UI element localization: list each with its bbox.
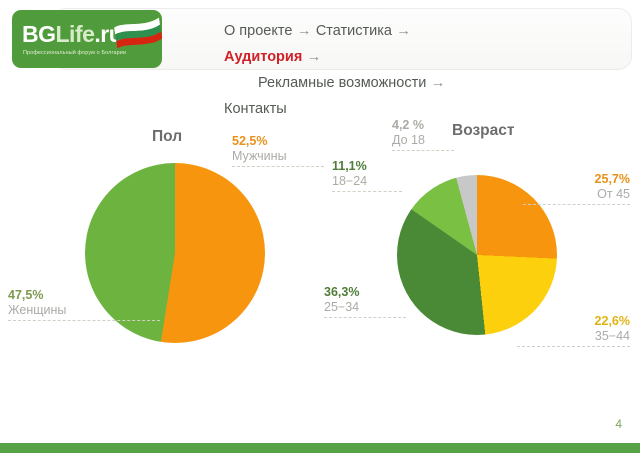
label-underline [332, 191, 402, 192]
nav-item-statistika[interactable]: Статистика [316, 23, 392, 39]
logo-wordmark: BGLife.ru [22, 21, 122, 48]
label-underline [232, 166, 324, 167]
nav-item-reklamnye-vozmozhnosti[interactable]: Рекламные возможности [258, 75, 426, 91]
label-underline [324, 317, 406, 318]
label-underline [8, 320, 160, 321]
slice-percent: 52,5% [232, 134, 324, 149]
arrow-icon: → [396, 23, 411, 39]
page-number: 4 [615, 417, 622, 431]
logo-bg-text: BG [22, 21, 56, 47]
chart-title-gender: Пол [152, 128, 182, 146]
arrow-icon: → [297, 23, 312, 39]
label-underline [517, 346, 630, 347]
nav-line-1: О проекте → Статистика → [224, 18, 624, 44]
slice-label-18-24: 11,1% 18−24 [332, 159, 402, 192]
arrow-icon: → [431, 75, 446, 91]
slice-percent: 47,5% [8, 288, 160, 303]
slice-category: От 45 [523, 187, 630, 202]
site-logo[interactable]: BGLife.ru Профессиональный форум о Болга… [12, 10, 162, 68]
slice-label-35-44: 22,6% 35−44 [517, 314, 630, 347]
nav-line-2: Аудитория → [224, 44, 624, 70]
label-underline [523, 204, 630, 205]
chart-title-age: Возраст [452, 122, 514, 140]
label-underline [392, 150, 454, 151]
slice-percent: 11,1% [332, 159, 402, 174]
slice-category: 35−44 [517, 329, 630, 344]
slice-category: Женщины [8, 303, 160, 318]
slice-percent: 25,7% [523, 172, 630, 187]
logo-life-text: Life [56, 21, 95, 47]
bulgaria-flag-icon [113, 16, 162, 49]
slice-label-women: 47,5% Женщины [8, 288, 160, 321]
nav-item-kontakty[interactable]: Контакты [224, 101, 287, 117]
nav-line-3: Рекламные возможности → [224, 70, 624, 96]
slice-label-over45: 25,7% От 45 [523, 172, 630, 205]
arrow-icon: → [307, 49, 322, 65]
nav-item-auditoriya[interactable]: Аудитория [224, 49, 302, 65]
slice-label-25-34: 36,3% 25−34 [324, 285, 406, 318]
footer-bar [0, 443, 640, 453]
slice-percent: 22,6% [517, 314, 630, 329]
logo-tagline: Профессиональный форум о Болгарии [23, 50, 126, 56]
slice-label-men: 52,5% Мужчины [232, 134, 324, 167]
slice-category: До 18 [392, 133, 454, 148]
slice-percent: 4,2 % [392, 118, 454, 133]
nav-item-o-proekte[interactable]: О проекте [224, 23, 292, 39]
slice-category: 18−24 [332, 174, 402, 189]
breadcrumb-nav: О проекте → Статистика → Аудитория → Рек… [224, 18, 624, 122]
slice-label-under18: 4,2 % До 18 [392, 118, 454, 151]
slice-category: 25−34 [324, 300, 406, 315]
slice-percent: 36,3% [324, 285, 406, 300]
slice-category: Мужчины [232, 149, 324, 164]
